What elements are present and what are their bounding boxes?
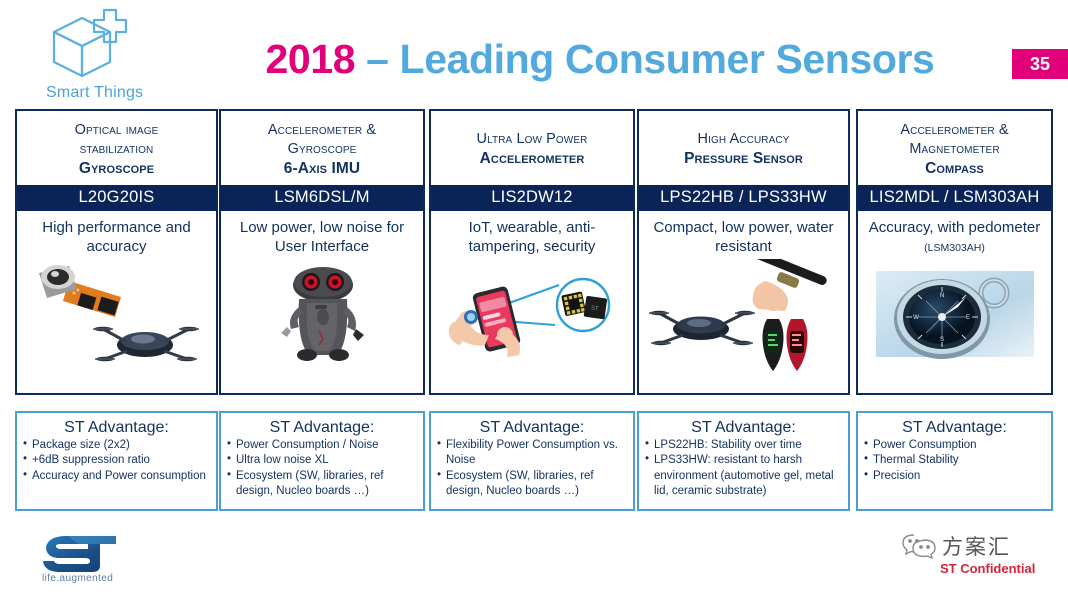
- advantage-item: Ecosystem (SW, libraries, ref design, Nu…: [437, 469, 627, 500]
- card-description-main: Accuracy, with pedometer: [869, 219, 1040, 236]
- column-pressure-sensor: High Accuracy Pressure Sensor LPS22HB / …: [637, 109, 850, 395]
- part-number-bar: L20G20IS: [17, 185, 216, 211]
- advantage-item: Package size (2x2): [23, 438, 210, 453]
- card-title-line: Accelerometer &: [862, 121, 1047, 140]
- advantage-item: Thermal Stability: [864, 453, 1045, 468]
- column-compass: Accelerometer & Magnetometer Compass LIS…: [856, 109, 1053, 395]
- wechat-icon: [900, 531, 940, 559]
- card-title: Accelerometer & Magnetometer Compass: [858, 111, 1051, 185]
- advantage-box-ultra-low-power-accelerometer: ST Advantage: Flexibility Power Consumpt…: [429, 411, 635, 511]
- advantage-list: Power Consumption Thermal Stability Prec…: [864, 438, 1045, 484]
- svg-text:E: E: [966, 315, 970, 321]
- advantage-item: Accuracy and Power consumption: [23, 469, 210, 484]
- column-6axis-imu: Accelerometer & Gyroscope 6-Axis IMU LSM…: [219, 109, 425, 395]
- advantage-box-compass: ST Advantage: Power Consumption Thermal …: [856, 411, 1053, 511]
- title-text: Leading Consumer Sensors: [400, 36, 935, 82]
- card-title-line: Accelerometer: [435, 149, 629, 169]
- part-number-bar: LIS2MDL / LSM303AH: [858, 185, 1051, 211]
- card-title: Ultra Low Power Accelerometer: [431, 111, 633, 185]
- brand-block: Smart Things: [22, 4, 202, 104]
- card-description-note: (LSM303AH): [924, 242, 985, 254]
- advantage-item: Ecosystem (SW, libraries, ref design, Nu…: [227, 469, 417, 500]
- advantage-box-optical-image-stabilization: ST Advantage: Package size (2x2) +6dB su…: [15, 411, 218, 511]
- brand-label: Smart Things: [46, 84, 143, 102]
- card-title-line: Magnetometer: [862, 140, 1047, 159]
- part-number-bar: LSM6DSL/M: [221, 185, 423, 211]
- card-title: Optical image stabilization Gyroscope: [17, 111, 216, 185]
- card-title-line: Accelerometer &: [225, 121, 419, 140]
- card-title-line: Ultra Low Power: [435, 130, 629, 149]
- part-number-bar: LIS2DW12: [431, 185, 633, 211]
- card-description: Low power, low noise for User Interface: [221, 211, 423, 259]
- advantage-item: Flexibility Power Consumption vs. Noise: [437, 438, 627, 469]
- advantage-list: Flexibility Power Consumption vs. Noise …: [437, 438, 627, 500]
- advantage-title: ST Advantage:: [227, 419, 417, 437]
- card-title-line: Optical image: [21, 121, 212, 140]
- slide-canvas: Smart Things 2018 – Leading Consumer Sen…: [0, 0, 1068, 600]
- drone-stylus-fitness-bands-image: [639, 259, 848, 394]
- card-title-line: Compass: [862, 159, 1047, 179]
- confidential-label: ST Confidential: [940, 561, 1035, 576]
- advantage-title: ST Advantage:: [437, 419, 627, 437]
- card-description: Accuracy, with pedometer (LSM303AH): [858, 211, 1051, 259]
- column-ultra-low-power-accelerometer: Ultra Low Power Accelerometer LIS2DW12 I…: [429, 109, 635, 395]
- svg-text:ST: ST: [591, 305, 600, 312]
- st-tagline: life.augmented: [42, 573, 113, 584]
- advantage-box-pressure-sensor: ST Advantage: LPS22HB: Stability over ti…: [637, 411, 850, 511]
- page-title: 2018 – Leading Consumer Sensors: [200, 36, 1000, 83]
- card-description: High performance and accuracy: [17, 211, 216, 259]
- product-card[interactable]: Accelerometer & Gyroscope 6-Axis IMU LSM…: [219, 109, 425, 395]
- advantage-item: Power Consumption / Noise: [227, 438, 417, 453]
- card-title-line: 6-Axis IMU: [225, 159, 419, 179]
- product-card[interactable]: Optical image stabilization Gyroscope L2…: [15, 109, 218, 395]
- compass-photo-image: NS WE: [858, 259, 1051, 394]
- product-card[interactable]: Accelerometer & Magnetometer Compass LIS…: [856, 109, 1053, 395]
- advantage-title: ST Advantage:: [23, 419, 210, 437]
- wechat-label: 方案汇: [942, 531, 1011, 561]
- advantage-item: Power Consumption: [864, 438, 1045, 453]
- column-optical-image-stabilization: Optical image stabilization Gyroscope L2…: [15, 109, 218, 395]
- product-card[interactable]: Ultra Low Power Accelerometer LIS2DW12 I…: [429, 109, 635, 395]
- card-title-line: Pressure Sensor: [643, 149, 844, 169]
- advantage-list: Power Consumption / Noise Ultra low nois…: [227, 438, 417, 500]
- title-dash: –: [366, 36, 388, 82]
- st-logo-block: life.augmented: [38, 533, 148, 580]
- card-title-line: stabilization: [21, 140, 212, 159]
- card-title: High Accuracy Pressure Sensor: [639, 111, 848, 185]
- toy-robot-image: [221, 259, 423, 394]
- product-card[interactable]: High Accuracy Pressure Sensor LPS22HB / …: [637, 109, 850, 395]
- page-number-badge: 35: [1012, 49, 1068, 79]
- advantage-item: LPS33HW: resistant to harsh environment …: [645, 453, 842, 499]
- part-number-bar: LPS22HB / LPS33HW: [639, 185, 848, 211]
- wechat-block: 方案汇 ST Confidential: [900, 531, 1060, 564]
- svg-text:W: W: [913, 315, 919, 321]
- card-title-line: High Accuracy: [643, 130, 844, 149]
- advantage-item: LPS22HB: Stability over time: [645, 438, 842, 453]
- camera-module-and-drone-image: [17, 259, 216, 394]
- advantage-item: Precision: [864, 469, 1045, 484]
- hands-smartphone-chips-image: ST: [431, 259, 633, 394]
- cube-plus-icon: [42, 6, 142, 91]
- svg-text:N: N: [940, 293, 944, 299]
- card-description: IoT, wearable, anti-tampering, security: [431, 211, 633, 259]
- advantage-title: ST Advantage:: [645, 419, 842, 437]
- card-title: Accelerometer & Gyroscope 6-Axis IMU: [221, 111, 423, 185]
- title-year: 2018: [266, 36, 356, 82]
- card-title-line: Gyroscope: [225, 140, 419, 159]
- advantage-item: +6dB suppression ratio: [23, 453, 210, 468]
- st-logo-icon: [38, 533, 130, 575]
- advantage-list: LPS22HB: Stability over time LPS33HW: re…: [645, 438, 842, 500]
- advantage-title: ST Advantage:: [864, 419, 1045, 437]
- card-title-line: Gyroscope: [21, 159, 212, 179]
- card-description: Compact, low power, water resistant: [639, 211, 848, 259]
- advantage-list: Package size (2x2) +6dB suppression rati…: [23, 438, 210, 484]
- advantage-box-6axis-imu: ST Advantage: Power Consumption / Noise …: [219, 411, 425, 511]
- advantage-item: Ultra low noise XL: [227, 453, 417, 468]
